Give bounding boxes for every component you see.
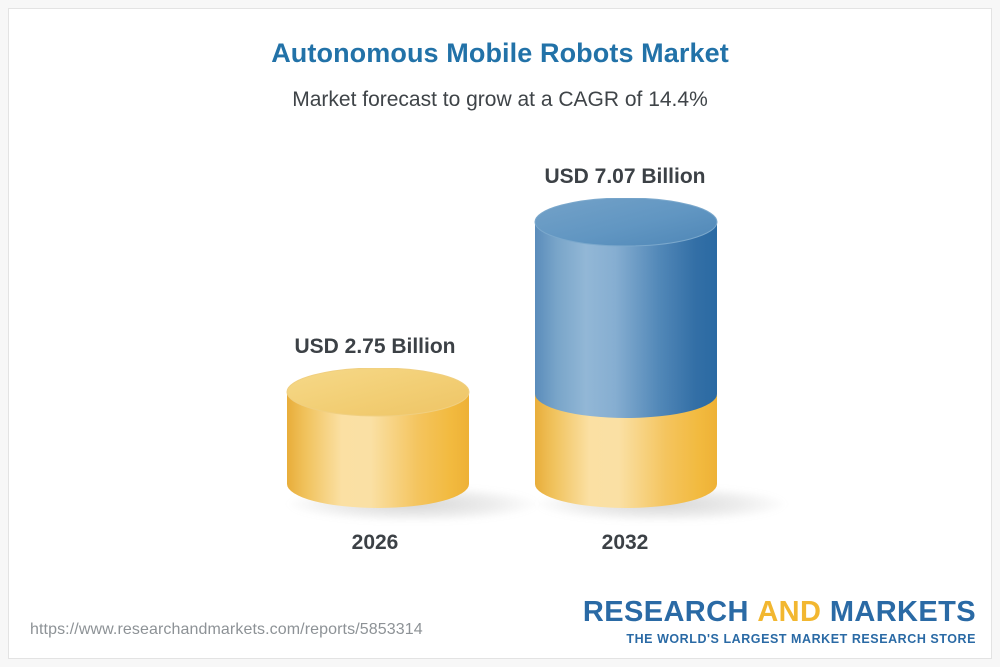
- source-url[interactable]: https://www.researchandmarkets.com/repor…: [30, 621, 423, 639]
- logo-wordmark: RESEARCH AND MARKETS: [583, 598, 976, 627]
- logo-word-markets: MARKETS: [830, 596, 976, 628]
- brand-logo[interactable]: RESEARCH AND MARKETS THE WORLD'S LARGEST…: [583, 598, 976, 646]
- bar-cylinder-2026: [283, 368, 473, 516]
- logo-word-research: RESEARCH: [583, 596, 749, 628]
- infographic-canvas: Autonomous Mobile Robots Market Market f…: [0, 0, 1000, 667]
- category-label-2026: 2026: [235, 531, 515, 555]
- data-label-2032: USD 7.07 Billion: [485, 165, 765, 189]
- bar-cylinder-2032: [531, 198, 721, 516]
- logo-word-and: AND: [757, 596, 821, 628]
- data-label-2026: USD 2.75 Billion: [235, 335, 515, 359]
- category-label-2032: 2032: [485, 531, 765, 555]
- chart-plot-area: USD 2.75 Billion USD 7.07 Billion 2026 2…: [0, 0, 1000, 667]
- logo-tagline: THE WORLD'S LARGEST MARKET RESEARCH STOR…: [583, 632, 976, 646]
